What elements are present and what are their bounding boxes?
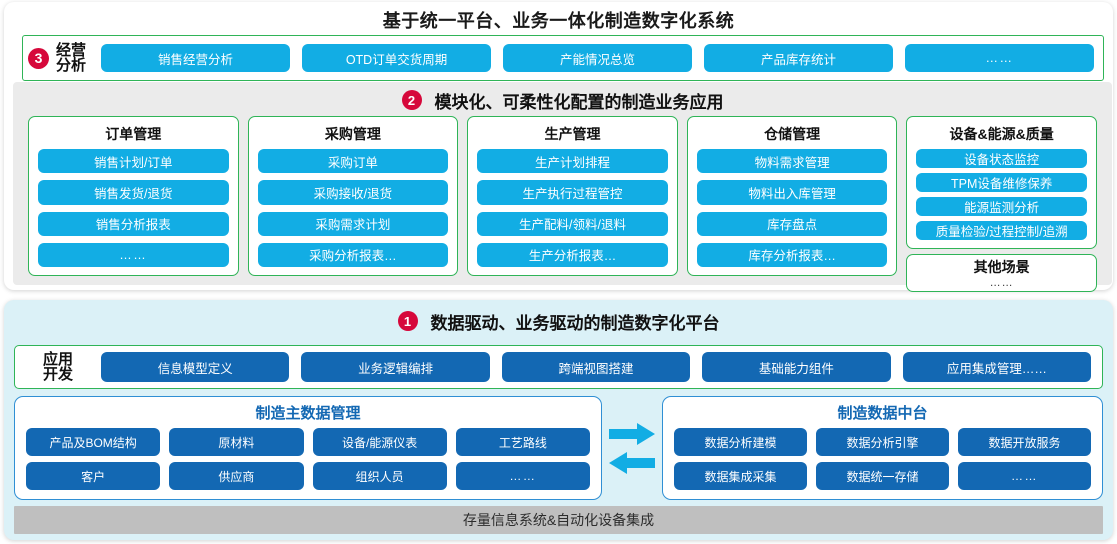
data-platform-cell[interactable]: 数据集成采集 <box>674 462 807 490</box>
module-items: 生产计划排程 生产执行过程管控 生产配料/领料/退料 生产分析报表… <box>477 149 668 267</box>
diagram-canvas: 基于统一平台、业务一体化制造数字化系统 3 经营 分析 销售经营分析 OTD订单… <box>0 0 1117 544</box>
band-business-application: 2 模块化、可柔性化配置的制造业务应用 订单管理 销售计划/订单 销售发货/退货… <box>13 82 1112 285</box>
app-dev-item-0[interactable]: 信息模型定义 <box>101 352 289 382</box>
data-platform-cell[interactable]: …… <box>958 462 1091 490</box>
master-data-cell[interactable]: 客户 <box>26 462 160 490</box>
band-number-badge-1: 1 <box>398 311 418 331</box>
data-platform-cell[interactable]: 数据分析引擎 <box>816 428 949 456</box>
module-item[interactable]: 生产执行过程管控 <box>477 180 668 204</box>
master-data-cell[interactable]: 产品及BOM结构 <box>26 428 160 456</box>
business-modules-row: 订单管理 销售计划/订单 销售发货/退货 销售分析报表 …… 采购管理 采购订单… <box>28 116 1097 276</box>
module-items: 销售计划/订单 销售发货/退货 销售分析报表 …… <box>38 149 229 267</box>
data-platform-cell[interactable]: 数据开放服务 <box>958 428 1091 456</box>
band-business-header: 2 模块化、可柔性化配置的制造业务应用 <box>13 88 1112 112</box>
app-development-label: 应用 开发 <box>15 352 101 383</box>
data-platform-cell[interactable]: 数据分析建模 <box>674 428 807 456</box>
band-platform-title: 数据驱动、业务驱动的制造数字化平台 <box>431 309 720 334</box>
band-operation-items: 销售经营分析 OTD订单交货周期 产能情况总览 产品库存统计 …… <box>101 44 1094 72</box>
operation-item-4[interactable]: …… <box>905 44 1094 72</box>
module-item[interactable]: 销售计划/订单 <box>38 149 229 173</box>
band-number-badge-3: 3 <box>28 48 49 69</box>
module-title: 设备&能源&质量 <box>916 124 1087 144</box>
band-business-title: 模块化、可柔性化配置的制造业务应用 <box>435 88 724 113</box>
module-item[interactable]: 质量检验/过程控制/追溯 <box>916 221 1087 240</box>
app-development-row: 应用 开发 信息模型定义 业务逻辑编排 跨端视图搭建 基础能力组件 应用集成管理… <box>14 345 1103 389</box>
module-item[interactable]: 销售发货/退货 <box>38 180 229 204</box>
module-items: 物料需求管理 物料出入库管理 库存盘点 库存分析报表… <box>697 149 888 267</box>
module-title: 仓储管理 <box>697 124 888 144</box>
master-data-cell[interactable]: 设备/能源仪表 <box>313 428 447 456</box>
module-purchase-management: 采购管理 采购订单 采购接收/退货 采购需求计划 采购分析报表… <box>248 116 459 276</box>
data-layer-row: 制造主数据管理 产品及BOM结构 原材料 设备/能源仪表 工艺路线 客户 供应商… <box>14 396 1103 500</box>
operation-item-1[interactable]: OTD订单交货周期 <box>302 44 491 72</box>
module-item[interactable]: 采购订单 <box>258 149 449 173</box>
module-item[interactable]: 采购分析报表… <box>258 243 449 267</box>
band-operation-label: 经营 分析 <box>56 43 86 74</box>
app-dev-item-1[interactable]: 业务逻辑编排 <box>301 352 489 382</box>
data-platform-title: 制造数据中台 <box>674 402 1091 423</box>
module-item[interactable]: 设备状态监控 <box>916 149 1087 168</box>
operation-item-3[interactable]: 产品库存统计 <box>704 44 893 72</box>
master-data-cell[interactable]: 供应商 <box>169 462 303 490</box>
operation-item-0[interactable]: 销售经营分析 <box>101 44 290 72</box>
module-items: 采购订单 采购接收/退货 采购需求计划 采购分析报表… <box>258 149 449 267</box>
module-production-management: 生产管理 生产计划排程 生产执行过程管控 生产配料/领料/退料 生产分析报表… <box>467 116 678 276</box>
app-dev-item-3[interactable]: 基础能力组件 <box>702 352 890 382</box>
module-item[interactable]: 库存分析报表… <box>697 243 888 267</box>
app-dev-item-2[interactable]: 跨端视图搭建 <box>502 352 690 382</box>
master-data-cell[interactable]: 工艺路线 <box>456 428 590 456</box>
data-platform-grid: 数据分析建模 数据分析引擎 数据开放服务 数据集成采集 数据统一存储 …… <box>674 428 1091 490</box>
module-item[interactable]: 库存盘点 <box>697 212 888 236</box>
operation-item-2[interactable]: 产能情况总览 <box>503 44 692 72</box>
band-platform-header: 1 数据驱动、业务驱动的制造数字化平台 <box>4 309 1113 333</box>
module-item[interactable]: 能源监测分析 <box>916 197 1087 216</box>
arrow-left-icon <box>609 452 655 474</box>
app-dev-item-4[interactable]: 应用集成管理…… <box>903 352 1091 382</box>
master-data-box: 制造主数据管理 产品及BOM结构 原材料 设备/能源仪表 工艺路线 客户 供应商… <box>14 396 602 500</box>
master-data-row: 产品及BOM结构 原材料 设备/能源仪表 工艺路线 <box>26 428 590 456</box>
master-data-cell[interactable]: 组织人员 <box>313 462 447 490</box>
module-other-scenarios: 其他场景 …… <box>906 254 1097 292</box>
module-order-management: 订单管理 销售计划/订单 销售发货/退货 销售分析报表 …… <box>28 116 239 276</box>
data-platform-row: 数据分析建模 数据分析引擎 数据开放服务 <box>674 428 1091 456</box>
module-title: 其他场景 <box>974 257 1030 277</box>
footer-integration-bar: 存量信息系统&自动化设备集成 <box>14 506 1103 534</box>
bidirectional-arrows <box>602 396 662 500</box>
module-equipment-energy-quality-group: 设备&能源&质量 设备状态监控 TPM设备维修保养 能源监测分析 质量检验/过程… <box>906 116 1097 276</box>
module-item[interactable]: TPM设备维修保养 <box>916 173 1087 192</box>
module-item[interactable]: 物料需求管理 <box>697 149 888 173</box>
module-title: 生产管理 <box>477 124 668 144</box>
module-item[interactable]: 采购接收/退货 <box>258 180 449 204</box>
module-item[interactable]: 销售分析报表 <box>38 212 229 236</box>
master-data-cell[interactable]: 原材料 <box>169 428 303 456</box>
module-item[interactable]: 采购需求计划 <box>258 212 449 236</box>
app-development-items: 信息模型定义 业务逻辑编排 跨端视图搭建 基础能力组件 应用集成管理…… <box>101 352 1091 382</box>
module-equipment-energy-quality: 设备&能源&质量 设备状态监控 TPM设备维修保养 能源监测分析 质量检验/过程… <box>906 116 1097 249</box>
master-data-cell[interactable]: …… <box>456 462 590 490</box>
module-item[interactable]: …… <box>38 243 229 267</box>
upper-section-card: 基于统一平台、业务一体化制造数字化系统 3 经营 分析 销售经营分析 OTD订单… <box>4 2 1113 290</box>
master-data-grid: 产品及BOM结构 原材料 设备/能源仪表 工艺路线 客户 供应商 组织人员 …… <box>26 428 590 490</box>
arrow-right-icon <box>609 423 655 445</box>
module-items: 设备状态监控 TPM设备维修保养 能源监测分析 质量检验/过程控制/追溯 <box>916 149 1087 240</box>
band-operation-analysis: 3 经营 分析 销售经营分析 OTD订单交货周期 产能情况总览 产品库存统计 …… <box>22 35 1104 81</box>
data-platform-box: 制造数据中台 数据分析建模 数据分析引擎 数据开放服务 数据集成采集 数据统一存… <box>662 396 1103 500</box>
band-number-badge-2: 2 <box>402 90 422 110</box>
module-item[interactable]: 生产分析报表… <box>477 243 668 267</box>
module-other-dots: …… <box>990 278 1014 289</box>
data-platform-cell[interactable]: 数据统一存储 <box>816 462 949 490</box>
module-item[interactable]: 生产计划排程 <box>477 149 668 173</box>
module-title: 采购管理 <box>258 124 449 144</box>
module-item[interactable]: 生产配料/领料/退料 <box>477 212 668 236</box>
page-title: 基于统一平台、业务一体化制造数字化系统 <box>4 7 1113 33</box>
master-data-row: 客户 供应商 组织人员 …… <box>26 462 590 490</box>
module-item[interactable]: 物料出入库管理 <box>697 180 888 204</box>
module-title: 订单管理 <box>38 124 229 144</box>
data-platform-row: 数据集成采集 数据统一存储 …… <box>674 462 1091 490</box>
master-data-title: 制造主数据管理 <box>26 402 590 423</box>
module-warehouse-management: 仓储管理 物料需求管理 物料出入库管理 库存盘点 库存分析报表… <box>687 116 898 276</box>
